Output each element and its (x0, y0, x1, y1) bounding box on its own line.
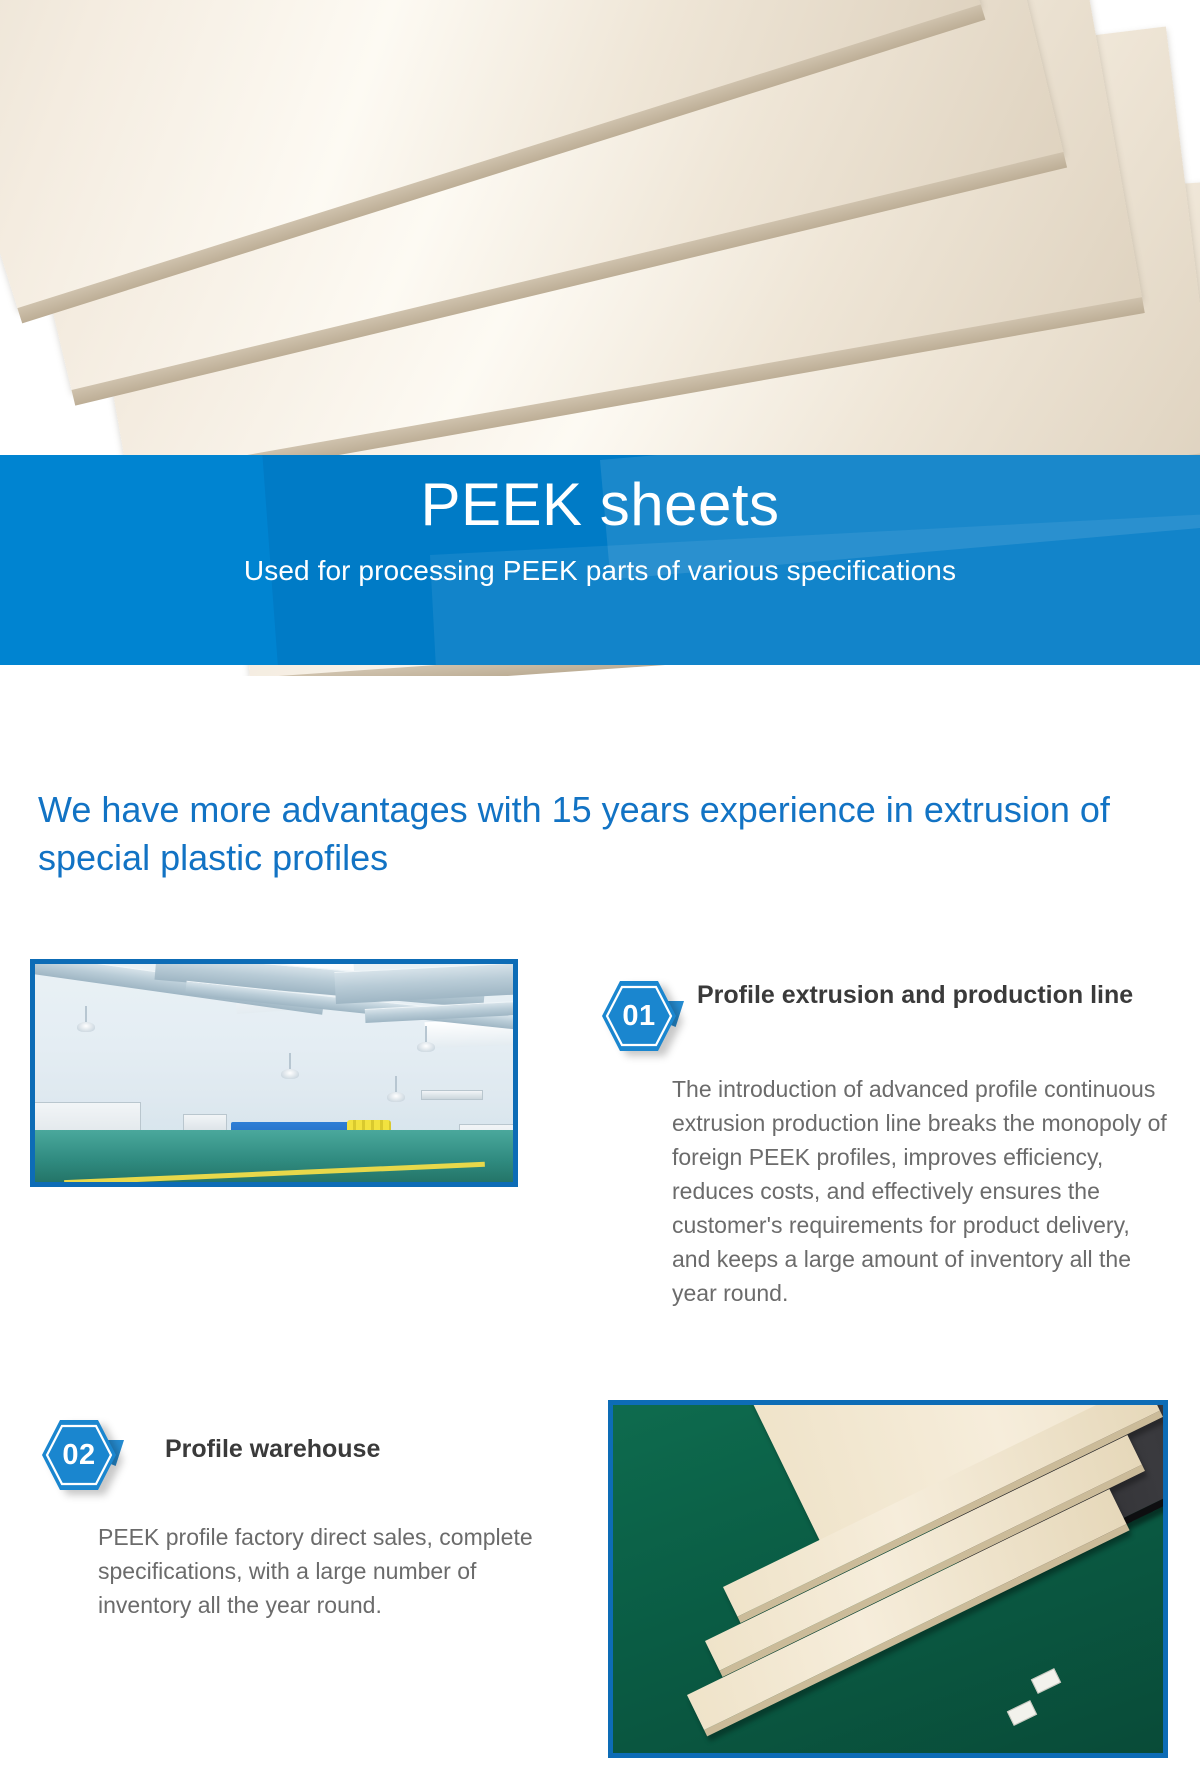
ceiling-lamp (77, 1022, 95, 1032)
section-badge-number: 02 (40, 1418, 118, 1492)
gantry-frame (421, 1090, 483, 1100)
section-title-02: Profile warehouse (165, 1432, 585, 1466)
product-detail-page: PEEK sheets Used for processing PEEK par… (0, 0, 1200, 1776)
section-badge-01: 01 (600, 979, 678, 1053)
hero-banner: PEEK sheets Used for processing PEEK par… (0, 455, 1200, 665)
warehouse-photo-content (613, 1405, 1163, 1753)
section-badge-02: 02 (40, 1418, 118, 1492)
banner-title: PEEK sheets (0, 465, 1200, 545)
warehouse-photo (608, 1400, 1168, 1758)
banner-subtitle: Used for processing PEEK parts of variou… (0, 551, 1200, 591)
factory-photo (30, 959, 518, 1187)
section-body-01: The introduction of advanced profile con… (672, 1072, 1172, 1310)
factory-photo-content (35, 964, 513, 1182)
ceiling-lamp (417, 1042, 435, 1052)
page-headline: We have more advantages with 15 years ex… (38, 786, 1173, 882)
spec-label-tag (1031, 1668, 1061, 1694)
spec-label-tag (1007, 1700, 1037, 1726)
ceiling-duct (334, 964, 513, 1004)
hero-section: PEEK sheets Used for processing PEEK par… (0, 0, 1200, 676)
section-body-02: PEEK profile factory direct sales, compl… (98, 1520, 538, 1622)
ceiling-lamp (281, 1069, 299, 1079)
ceiling-lamp (387, 1092, 405, 1102)
section-title-01: Profile extrusion and production line (697, 978, 1177, 1012)
section-badge-number: 01 (600, 979, 678, 1053)
